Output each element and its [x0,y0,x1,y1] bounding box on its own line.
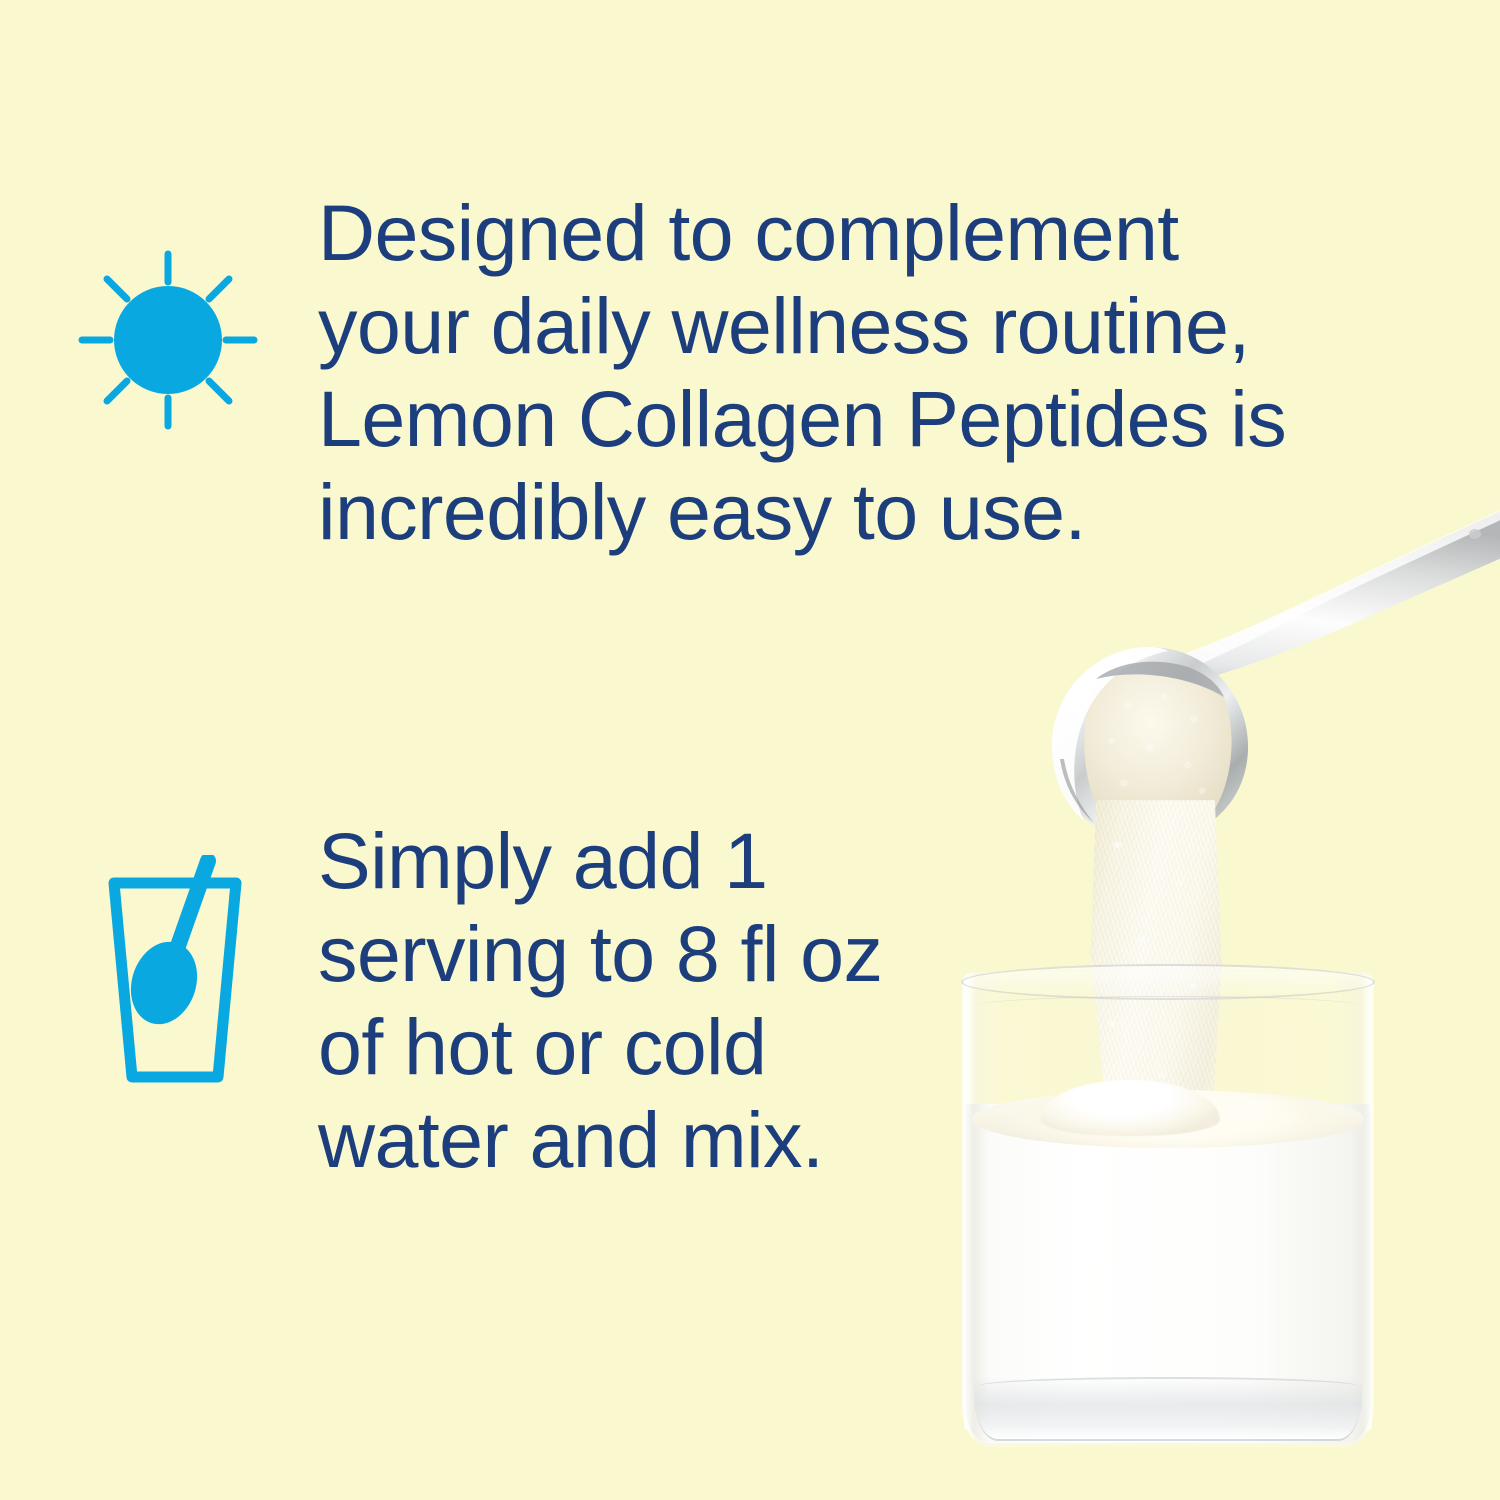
glass-rim-inner [978,996,1358,1015]
sun-icon [72,240,272,440]
glass-with-spoon-icon [100,855,250,1090]
feature-text-simply-add-one-serving: Simply add 1 serving to 8 fl oz of hot o… [318,814,958,1186]
glass-rim [961,964,1375,1000]
glass-base-line [978,1377,1358,1395]
glass-edge-right [1363,980,1372,1431]
product-benefits-panel: Designed to complement your daily wellne… [0,0,1500,1500]
product-usage-photo [900,500,1500,1500]
glass-edge-left [964,980,973,1431]
drinking-glass [962,972,1374,1447]
